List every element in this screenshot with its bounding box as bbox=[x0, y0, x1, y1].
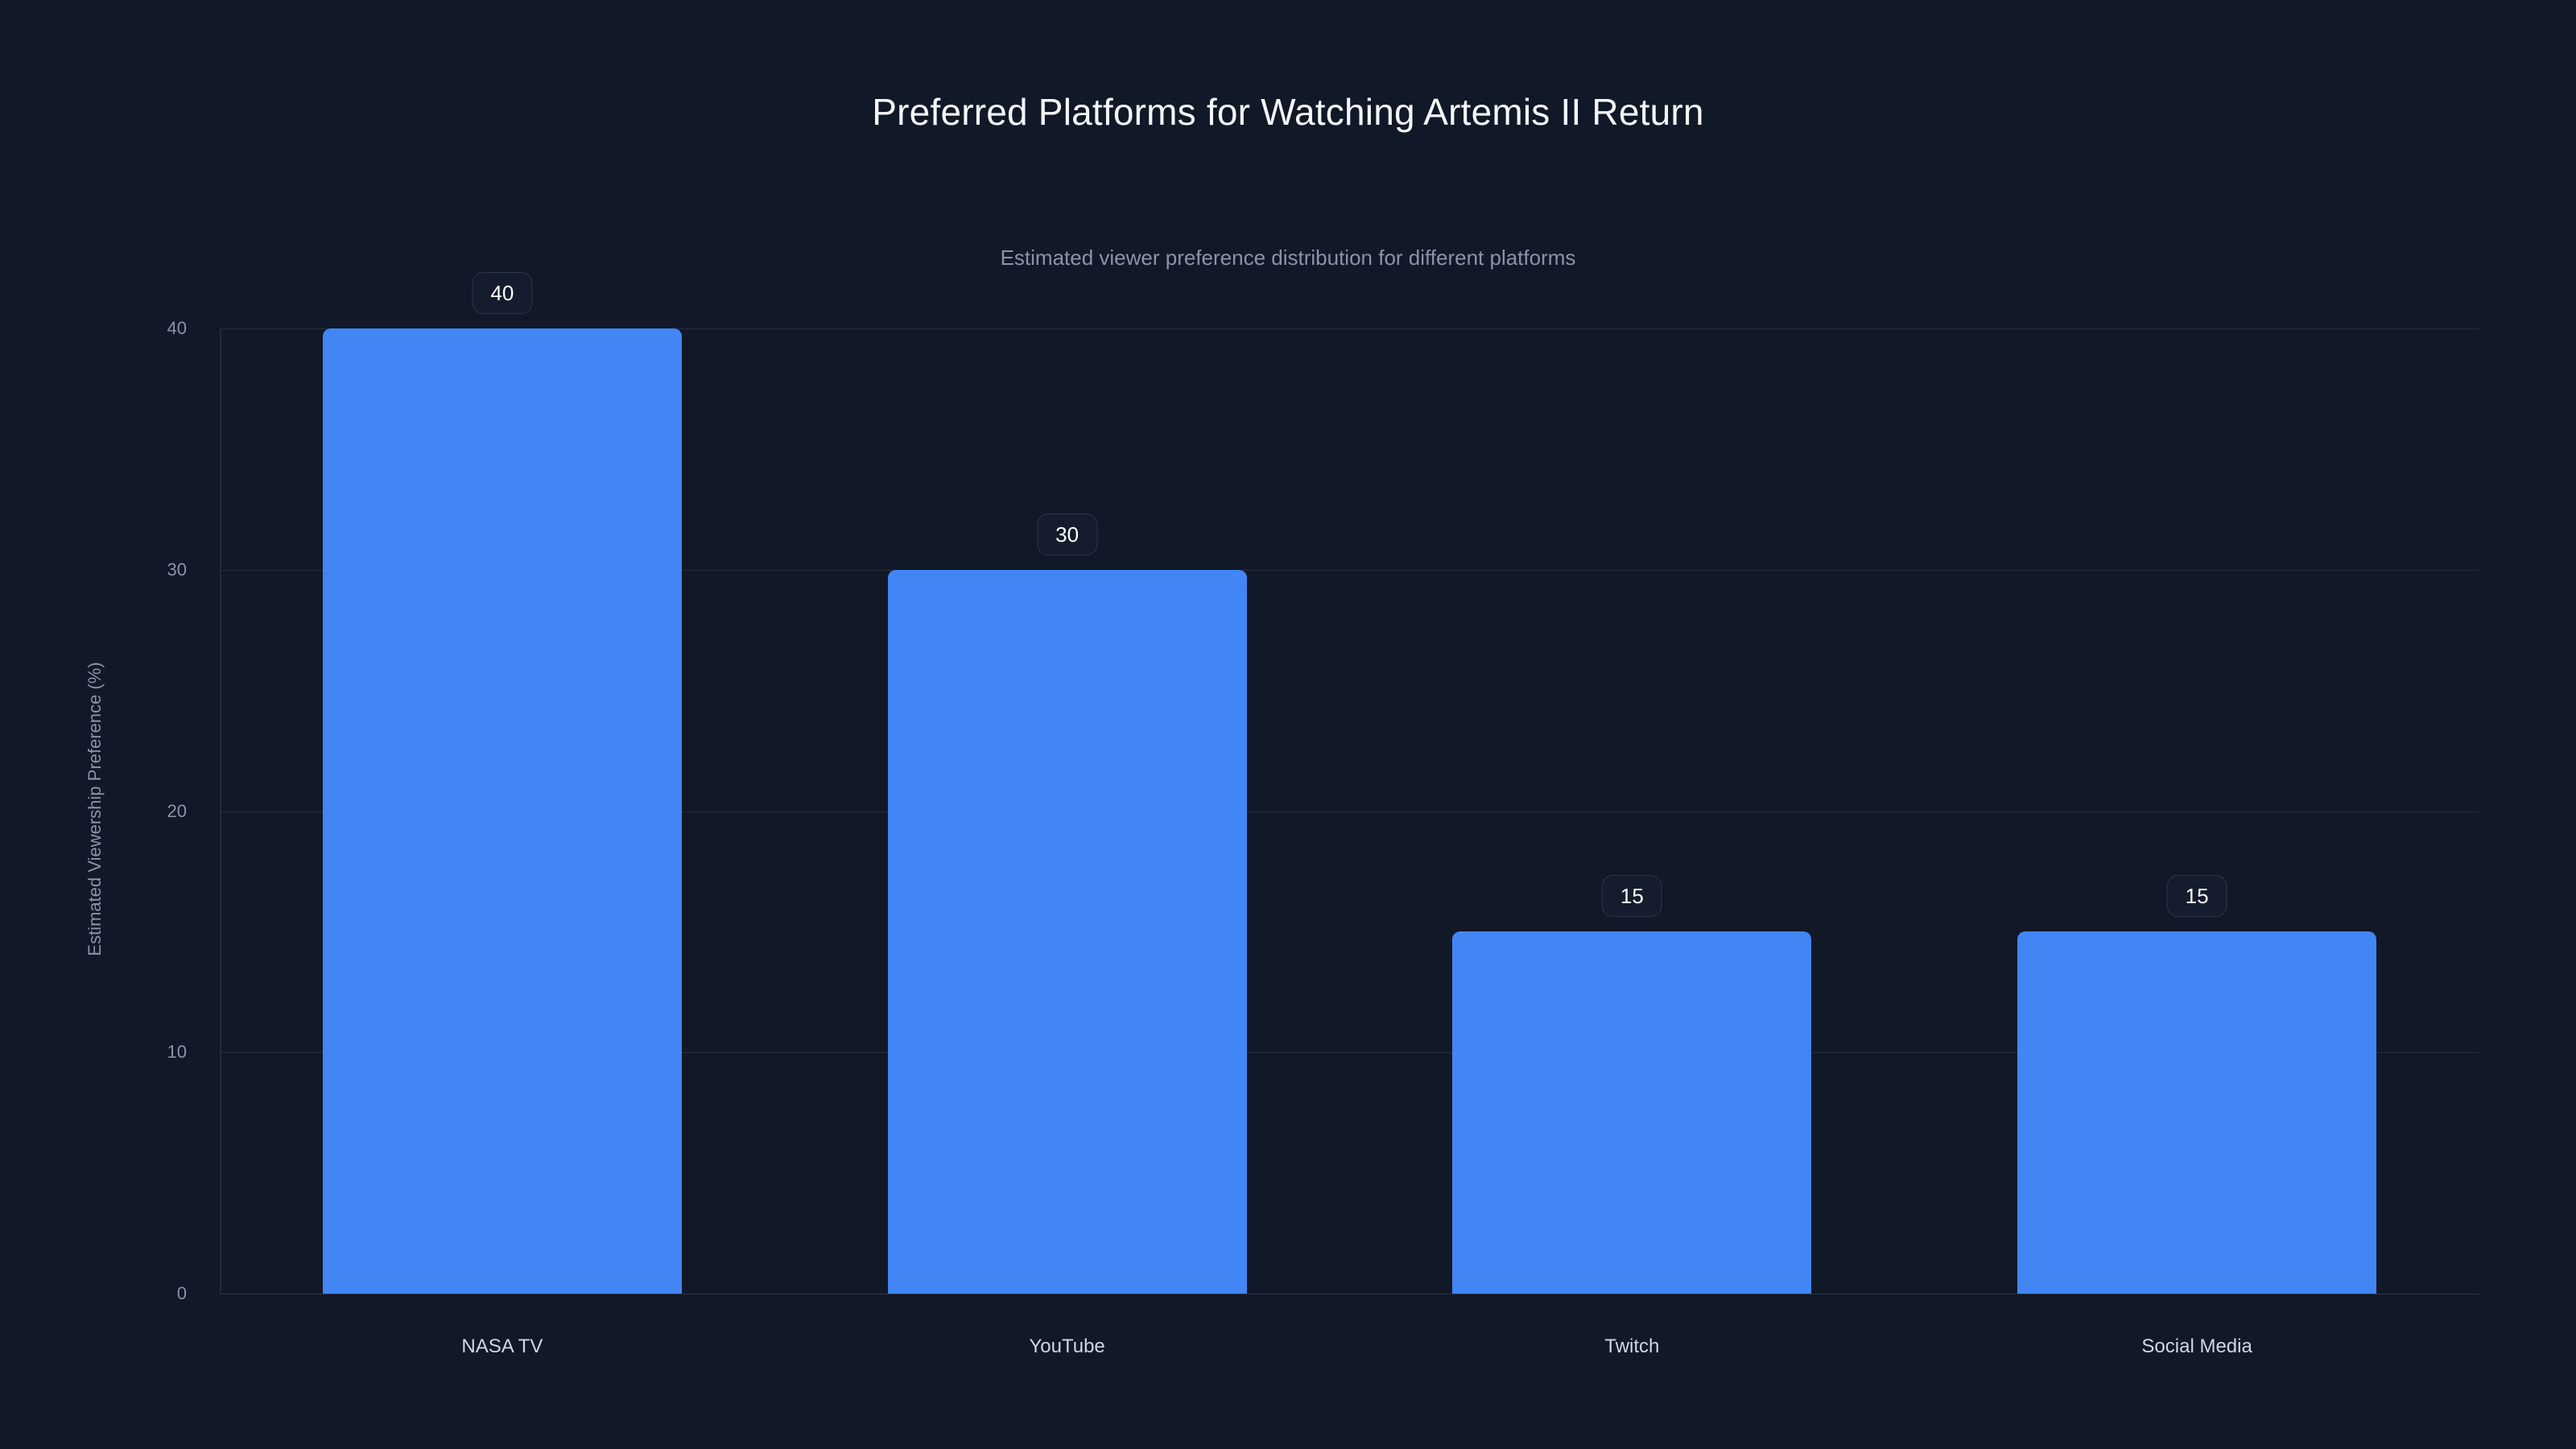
bar[interactable] bbox=[323, 328, 682, 1294]
gridline bbox=[220, 1294, 2479, 1294]
chart-canvas: Preferred Platforms for Watching Artemis… bbox=[0, 0, 2576, 1449]
x-tick-label: NASA TV bbox=[461, 1335, 543, 1358]
plot-area bbox=[220, 328, 2479, 1294]
bar[interactable] bbox=[1452, 931, 1811, 1294]
chart-subtitle: Estimated viewer preference distribution… bbox=[0, 246, 2576, 270]
page-title: Preferred Platforms for Watching Artemis… bbox=[0, 90, 2576, 134]
y-tick-label: 30 bbox=[0, 559, 187, 580]
bar[interactable] bbox=[888, 570, 1247, 1294]
y-tick-label: 0 bbox=[0, 1283, 187, 1304]
y-tick-label: 20 bbox=[0, 801, 187, 822]
bar-value-badge: 15 bbox=[1602, 875, 1662, 917]
bar[interactable] bbox=[2017, 931, 2376, 1294]
y-tick-label: 40 bbox=[0, 318, 187, 339]
bar-value-badge: 40 bbox=[472, 272, 532, 314]
y-tick-label: 10 bbox=[0, 1042, 187, 1063]
x-tick-label: Social Media bbox=[2141, 1335, 2252, 1358]
x-tick-label: Twitch bbox=[1604, 1335, 1659, 1358]
bar-value-badge: 15 bbox=[2167, 875, 2227, 917]
bar-value-badge: 30 bbox=[1037, 514, 1097, 555]
x-tick-label: YouTube bbox=[1029, 1335, 1104, 1358]
